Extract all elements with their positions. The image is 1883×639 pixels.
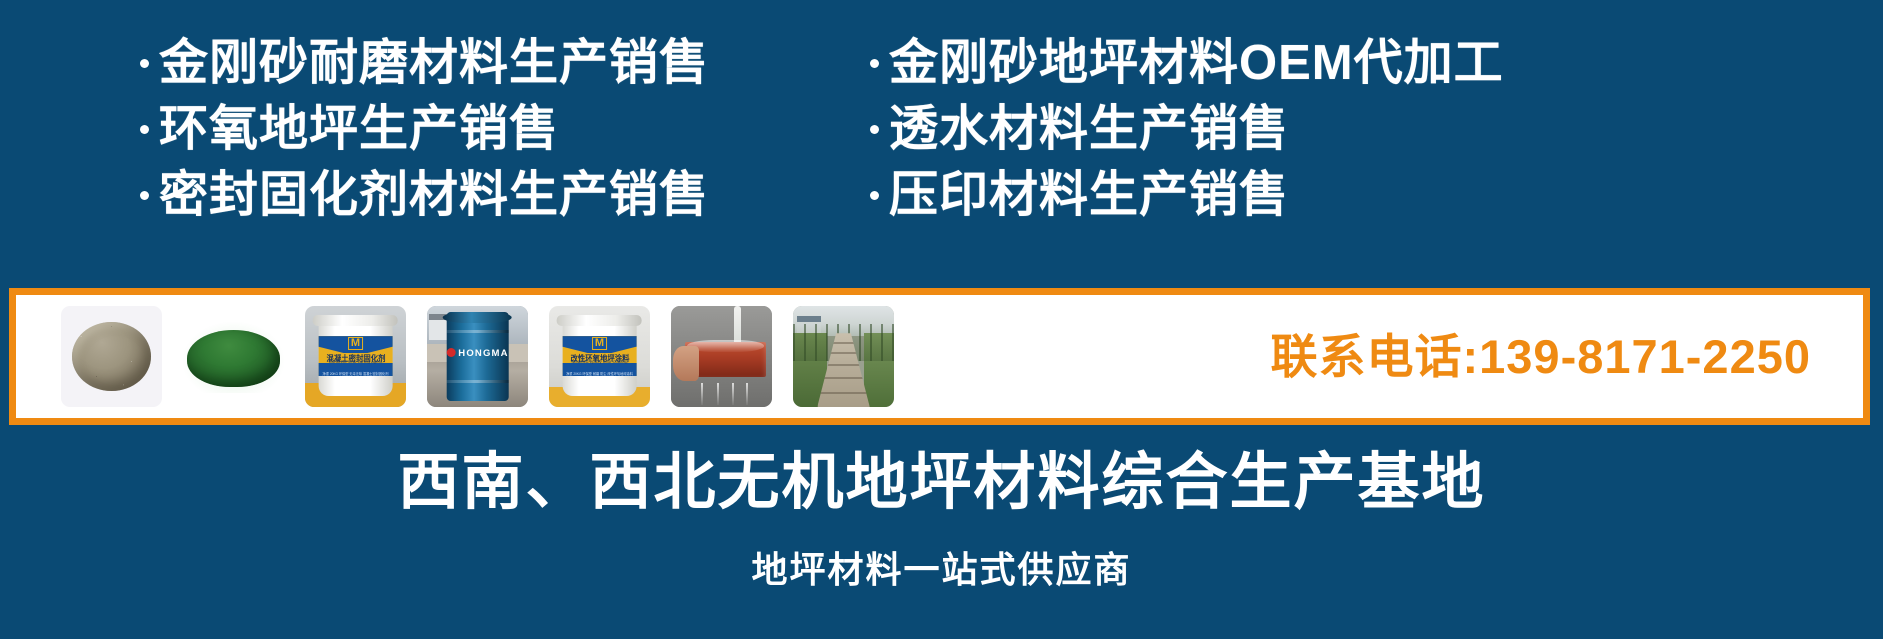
bullet-dot-icon xyxy=(140,125,149,134)
feature-item: 环氧地坪生产销售 xyxy=(140,100,840,158)
feature-column-right: 金刚砂地坪材料OEM代加工 透水材料生产销售 压印材料生产销售 xyxy=(870,34,1850,234)
product-thumb-epoxy-pail: M 改性环氧地坪涂料 Modified epoxy floor coating … xyxy=(549,306,650,407)
product-thumbnail-list: M 混凝土密封固化剂 Concrete seal curing agent 净重… xyxy=(61,306,894,407)
bullet-dot-icon xyxy=(870,191,879,200)
stamped-concrete-path-icon xyxy=(793,306,894,407)
pail-label-fine: 净重 20KG 环保型 无毒无味 混凝土密封固化剂 xyxy=(318,372,393,376)
green-powder-pile-icon xyxy=(183,306,284,407)
feature-item: 密封固化剂材料生产销售 xyxy=(140,166,840,224)
product-thumb-permeable-block xyxy=(671,306,772,407)
feature-item: 金刚砂地坪材料OEM代加工 xyxy=(870,34,1850,92)
brand-mark-m: M xyxy=(592,337,607,350)
product-thumb-green-powder xyxy=(183,306,284,407)
bullet-dot-icon xyxy=(140,59,149,68)
product-strip-panel: M 混凝土密封固化剂 Concrete seal curing agent 净重… xyxy=(9,288,1870,425)
product-thumb-stamped-path xyxy=(793,306,894,407)
blue-drum-icon: HONGMA xyxy=(427,306,528,407)
pail-label-en: Modified epoxy floor coating xyxy=(562,359,637,364)
feature-label: 密封固化剂材料生产销售 xyxy=(159,166,709,224)
banner-headline: 西南、西北无机地坪材料综合生产基地 xyxy=(0,447,1883,519)
product-thumb-sealer-pail: M 混凝土密封固化剂 Concrete seal curing agent 净重… xyxy=(305,306,406,407)
feature-label: 环氧地坪生产销售 xyxy=(159,100,559,158)
white-pail-icon: M 改性环氧地坪涂料 Modified epoxy floor coating … xyxy=(549,306,650,407)
bullet-dot-icon xyxy=(140,191,149,200)
feature-label: 压印材料生产销售 xyxy=(889,166,1289,224)
feature-item: 压印材料生产销售 xyxy=(870,166,1850,224)
bullet-dot-icon xyxy=(870,59,879,68)
white-pail-icon: M 混凝土密封固化剂 Concrete seal curing agent 净重… xyxy=(305,306,406,407)
red-permeable-block-icon xyxy=(671,306,772,407)
feature-label: 金刚砂耐磨材料生产销售 xyxy=(159,34,709,92)
brand-mark-m: M xyxy=(348,337,363,350)
feature-label: 金刚砂地坪材料OEM代加工 xyxy=(889,34,1504,92)
bullet-dot-icon xyxy=(870,125,879,134)
contact-phone[interactable]: 联系电话:139-8171-2250 xyxy=(1271,331,1812,383)
hongma-logo-icon xyxy=(446,348,455,357)
banner-subheadline: 地坪材料一站式供应商 xyxy=(0,549,1883,591)
feature-item: 金刚砂耐磨材料生产销售 xyxy=(140,34,840,92)
feature-column-left: 金刚砂耐磨材料生产销售 环氧地坪生产销售 密封固化剂材料生产销售 xyxy=(140,34,840,234)
product-thumb-blue-drum: HONGMA xyxy=(427,306,528,407)
feature-label: 透水材料生产销售 xyxy=(889,100,1289,158)
pail-label-fine: 净重 20KG 环保型 耐磨 防尘 改性环氧地坪涂料 xyxy=(562,372,637,376)
promo-banner: 金刚砂耐磨材料生产销售 环氧地坪生产销售 密封固化剂材料生产销售 金刚砂地坪材料… xyxy=(0,0,1883,639)
feature-lists: 金刚砂耐磨材料生产销售 环氧地坪生产销售 密封固化剂材料生产销售 金刚砂地坪材料… xyxy=(0,34,1883,234)
drum-brand-text: HONGMA xyxy=(446,348,509,359)
pail-label-en: Concrete seal curing agent xyxy=(318,359,393,364)
product-thumb-grey-powder xyxy=(61,306,162,407)
grey-powder-pile-icon xyxy=(61,306,162,407)
feature-item: 透水材料生产销售 xyxy=(870,100,1850,158)
